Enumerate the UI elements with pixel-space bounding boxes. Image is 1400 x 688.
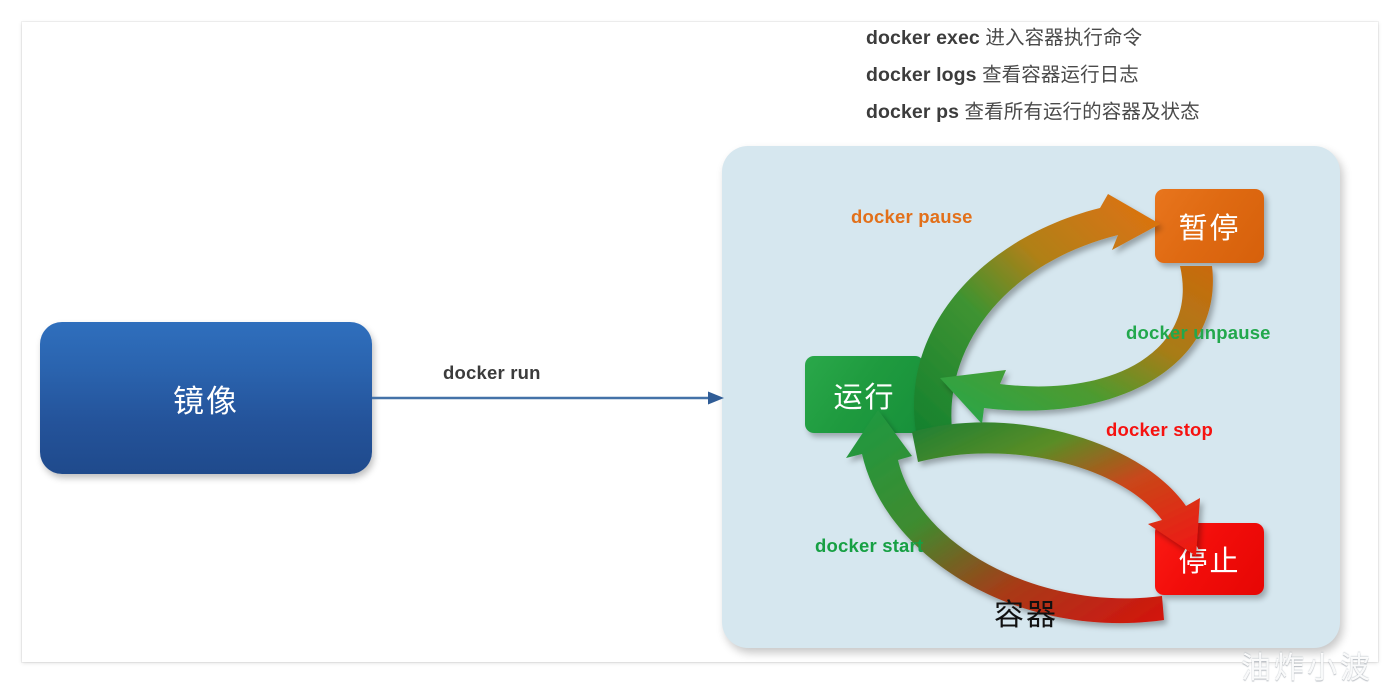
state-paused: 暂停 <box>1155 189 1264 263</box>
state-stopped: 停止 <box>1155 523 1264 595</box>
command-line: docker exec 进入容器执行命令 <box>866 20 1366 57</box>
command-name: docker exec <box>866 27 980 49</box>
state-running-label: 运行 <box>833 374 895 416</box>
state-paused-label: 暂停 <box>1178 205 1240 247</box>
command-line: docker ps 查看所有运行的容器及状态 <box>866 94 1366 131</box>
watermark: 油炸小波 <box>1241 643 1373 687</box>
command-description: 查看所有运行的容器及状态 <box>959 101 1200 123</box>
docker-run-label: docker run <box>443 362 541 384</box>
transition-label-pause: docker pause <box>851 206 973 228</box>
container-label: 容器 <box>994 590 1058 634</box>
image-node-label: 镜像 <box>173 376 239 421</box>
command-name: docker logs <box>866 64 977 86</box>
command-list: docker exec 进入容器执行命令 docker logs 查看容器运行日… <box>866 20 1366 131</box>
state-stopped-label: 停止 <box>1178 538 1240 580</box>
command-name: docker ps <box>866 101 959 123</box>
command-description: 进入容器执行命令 <box>980 27 1142 49</box>
transition-label-start: docker start <box>815 535 923 557</box>
command-line: docker logs 查看容器运行日志 <box>866 57 1366 94</box>
docker-run-arrow <box>372 386 724 410</box>
transition-label-unpause: docker unpause <box>1126 322 1271 344</box>
state-running: 运行 <box>805 356 924 433</box>
command-description: 查看容器运行日志 <box>977 64 1139 86</box>
image-node: 镜像 <box>40 322 372 474</box>
transition-label-stop: docker stop <box>1106 419 1213 441</box>
